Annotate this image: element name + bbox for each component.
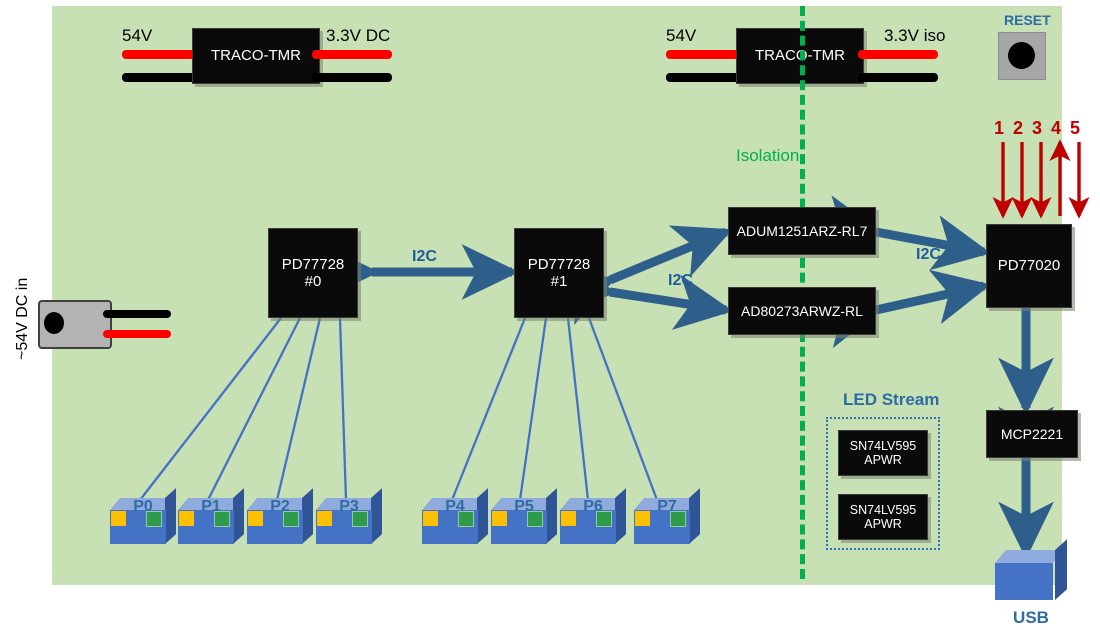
diagram-canvas: ~54V DC in 54V TRACO-TMR 3.3V DC 54V TRA… [0,0,1100,630]
reset-button-dot [1008,42,1035,69]
port-side-face [302,488,313,544]
port-label-p5: P5 [491,498,557,516]
chip-sn74lv595-1: SN74LV595 APWR [838,430,928,476]
numbered-arrow-label-3: 3 [1032,118,1042,139]
traco2-input-wire-black [666,73,746,82]
traco2-input-label: 54V [666,26,696,46]
dc-wire-black [103,310,171,318]
dc-input-label: ~54V DC in [14,278,32,360]
traco1-input-wire-black [122,73,202,82]
chip-mcp2221: MCP2221 [986,410,1078,458]
port-side-face [615,488,626,544]
usb-side-face [1055,539,1067,600]
label-i2c-pd77020: I2C [916,246,941,264]
numbered-arrow-label-1: 1 [994,118,1004,139]
chip-traco-tmr-1: TRACO-TMR [192,28,320,84]
port-label-p0: P0 [110,498,176,516]
chip-pd77728-1-label: PD77728 #1 [528,256,591,291]
port-side-face [689,488,700,544]
numbered-arrow-label-4: 4 [1051,118,1061,139]
chip-pd77728-0-label: PD77728 #0 [282,256,345,291]
port-side-face [233,488,244,544]
traco2-output-wire-red [858,50,938,59]
traco1-input-wire-red [122,50,202,59]
usb-label: USB [995,608,1067,628]
chip-pd77020: PD77020 [986,224,1072,308]
chip-sn74lv595-1-label: SN74LV595 APWR [850,439,917,468]
traco1-output-wire-red [312,50,392,59]
numbered-arrow-label-2: 2 [1013,118,1023,139]
port-side-face [371,488,382,544]
usb-top-face [995,550,1064,563]
led-stream-title: LED Stream [843,390,939,410]
chip-sn74lv595-2: SN74LV595 APWR [838,494,928,540]
traco1-output-wire-black [312,73,392,82]
reset-label: RESET [1004,12,1051,28]
port-label-p3: P3 [316,498,382,516]
port-label-p7: P7 [634,498,700,516]
port-label-p1: P1 [178,498,244,516]
label-i2c-isolators: I2C [668,272,693,290]
port-label-p2: P2 [247,498,313,516]
port-side-face [546,488,557,544]
port-side-face [165,488,176,544]
chip-mcp2221-label: MCP2221 [1001,426,1063,442]
traco1-output-label: 3.3V DC [326,26,390,46]
chip-pd77728-1: PD77728 #1 [514,228,604,318]
chip-ad80273-label: AD80273ARWZ-RL [741,303,863,319]
chip-traco-tmr-1-label: TRACO-TMR [211,47,301,64]
traco2-output-wire-black [858,73,938,82]
port-label-p4: P4 [422,498,488,516]
dc-wire-red [103,330,171,338]
chip-adum1251-label: ADUM1251ARZ-RL7 [737,223,868,239]
chip-pd77020-label: PD77020 [998,257,1061,274]
traco2-output-label: 3.3V iso [884,26,945,46]
usb-connector[interactable] [995,550,1067,612]
chip-ad80273: AD80273ARWZ-RL [728,287,876,335]
isolation-label: Isolation [736,146,799,166]
label-i2c-pd77728-link: I2C [412,248,437,266]
reset-button[interactable] [998,32,1046,80]
traco2-input-wire-red [666,50,746,59]
usb-front-face [995,563,1053,600]
numbered-arrow-labels: 1 2 3 4 5 [994,118,1094,142]
dc-barrel-jack-hole [44,312,64,334]
chip-adum1251: ADUM1251ARZ-RL7 [728,207,876,255]
chip-sn74lv595-2-label: SN74LV595 APWR [850,503,917,532]
chip-pd77728-0: PD77728 #0 [268,228,358,318]
traco1-input-label: 54V [122,26,152,46]
port-label-p6: P6 [560,498,626,516]
numbered-arrow-label-5: 5 [1070,118,1080,139]
port-side-face [477,488,488,544]
